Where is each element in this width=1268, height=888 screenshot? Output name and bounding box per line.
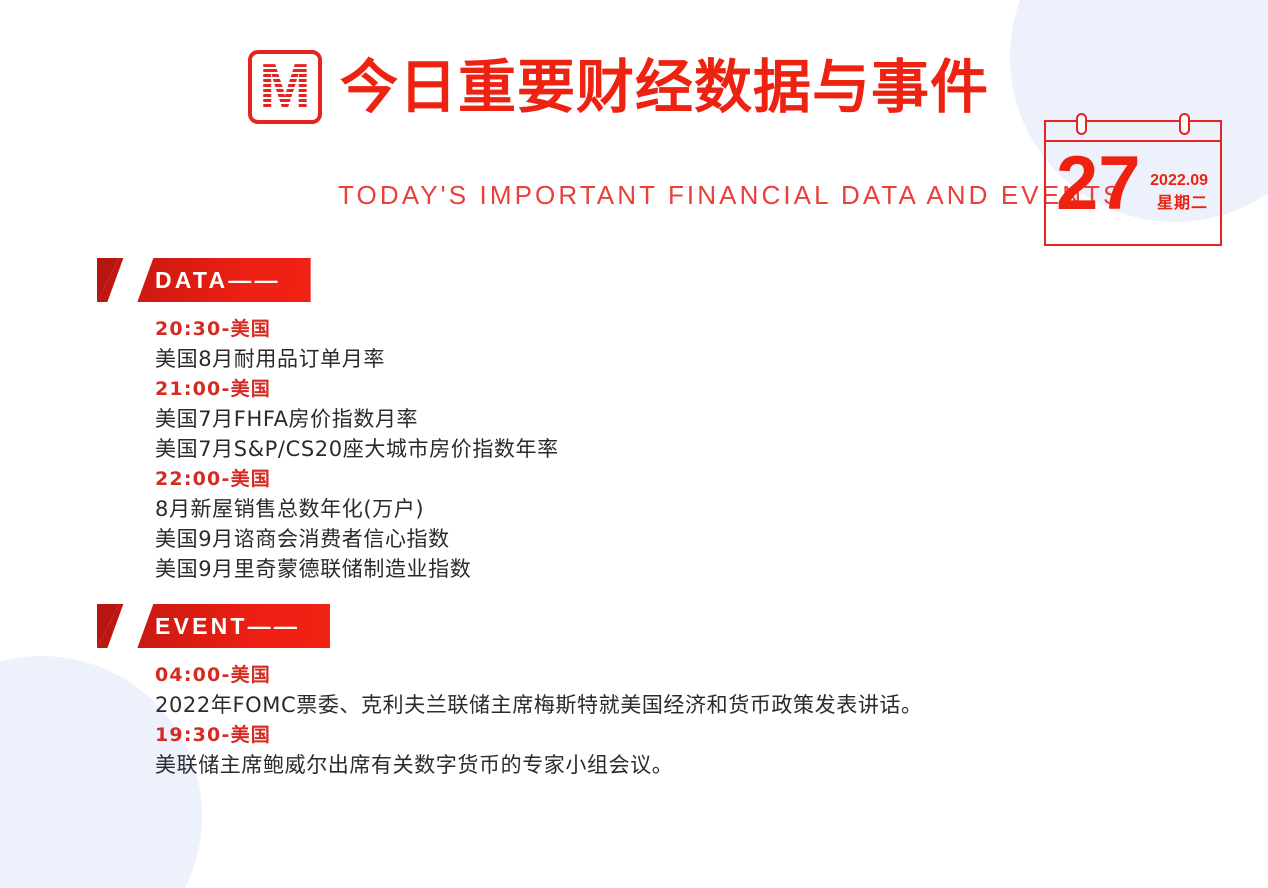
calendar-weekday: 星期二 (1150, 192, 1208, 214)
calendar-ring-icon (1076, 113, 1087, 135)
calendar-meta: 2022.09 星期二 (1150, 170, 1208, 213)
calendar-day: 27 (1056, 146, 1141, 222)
page-title: 今日重要财经数据与事件 (340, 58, 989, 116)
entry-time: 19:30-美国 (155, 720, 923, 750)
entry-time: 22:00-美国 (155, 464, 559, 494)
section-banner-label: EVENT—— (155, 613, 300, 640)
entry-time: 04:00-美国 (155, 660, 923, 690)
logo-stripe-overlay (252, 54, 318, 120)
calendar-ring-icon (1179, 113, 1190, 135)
list-item: 美国7月FHFA房价指数月率 (155, 404, 559, 434)
entry-time: 21:00-美国 (155, 374, 559, 404)
section-banner-data: DATA—— (97, 258, 311, 302)
list-item: 美联储主席鲍威尔出席有关数字货币的专家小组会议。 (155, 750, 923, 780)
page-subtitle: TODAY'S IMPORTANT FINANCIAL DATA AND EVE… (338, 180, 1124, 211)
poster-page: M 今日重要财经数据与事件 TODAY'S IMPORTANT FINANCIA… (0, 0, 1268, 888)
event-entry-list: 04:00-美国 2022年FOMC票委、克利夫兰联储主席梅斯特就美国经济和货币… (155, 660, 923, 780)
m-logo-icon: M (248, 50, 322, 124)
calendar-year-month: 2022.09 (1150, 170, 1208, 192)
list-item: 8月新屋销售总数年化(万户) (155, 494, 559, 524)
section-data: DATA—— 20:30-美国 美国8月耐用品订单月率 21:00-美国 美国7… (0, 258, 559, 584)
calendar-top-bar (1044, 120, 1222, 142)
list-item: 2022年FOMC票委、克利夫兰联储主席梅斯特就美国经济和货币政策发表讲话。 (155, 690, 923, 720)
data-entry-list: 20:30-美国 美国8月耐用品订单月率 21:00-美国 美国7月FHFA房价… (155, 314, 559, 584)
brand-lockup: M 今日重要财经数据与事件 (248, 50, 989, 124)
calendar-widget: 27 2022.09 星期二 (1044, 120, 1222, 246)
section-banner-event: EVENT—— (97, 604, 330, 648)
list-item: 美国9月里奇蒙德联储制造业指数 (155, 554, 559, 584)
list-item: 美国7月S&P/CS20座大城市房价指数年率 (155, 434, 559, 464)
section-banner-label: DATA—— (155, 267, 281, 294)
list-item: 美国8月耐用品订单月率 (155, 344, 559, 374)
entry-time: 20:30-美国 (155, 314, 559, 344)
section-event: EVENT—— 04:00-美国 2022年FOMC票委、克利夫兰联储主席梅斯特… (0, 604, 923, 780)
list-item: 美国9月谘商会消费者信心指数 (155, 524, 559, 554)
